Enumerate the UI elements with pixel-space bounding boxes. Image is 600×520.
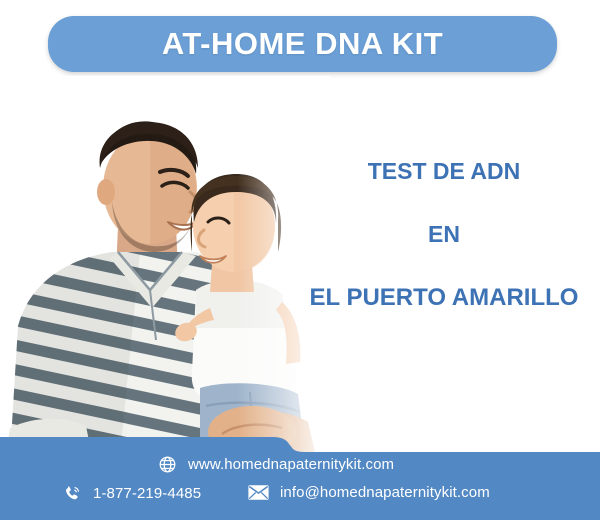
footer-email-row[interactable]: info@homednapaternitykit.com bbox=[248, 484, 490, 501]
family-photo-illustration bbox=[0, 76, 330, 456]
headline-line-3: EL PUERTO AMARILLO bbox=[300, 286, 588, 310]
banner-title: AT-HOME DNA KIT bbox=[162, 26, 443, 62]
footer-website-row[interactable]: www.homednapaternitykit.com bbox=[158, 455, 394, 474]
contact-footer: www.homednapaternitykit.com 1-877-219-44… bbox=[0, 430, 600, 520]
email-text: info@homednapaternitykit.com bbox=[280, 484, 490, 501]
phone-text: 1-877-219-4485 bbox=[93, 485, 201, 502]
headline-block: TEST DE ADN EN EL PUERTO AMARILLO bbox=[300, 160, 588, 310]
website-text: www.homednapaternitykit.com bbox=[188, 456, 394, 473]
envelope-icon bbox=[248, 484, 269, 501]
headline-line-2: EN bbox=[300, 223, 588, 246]
header-banner: AT-HOME DNA KIT bbox=[48, 16, 557, 72]
headline-line-1: TEST DE ADN bbox=[300, 160, 588, 183]
promotional-poster: AT-HOME DNA KIT bbox=[0, 0, 600, 520]
globe-icon bbox=[158, 455, 177, 474]
family-photo bbox=[0, 76, 330, 456]
phone-icon bbox=[63, 484, 82, 503]
footer-phone-row[interactable]: 1-877-219-4485 bbox=[63, 484, 201, 503]
